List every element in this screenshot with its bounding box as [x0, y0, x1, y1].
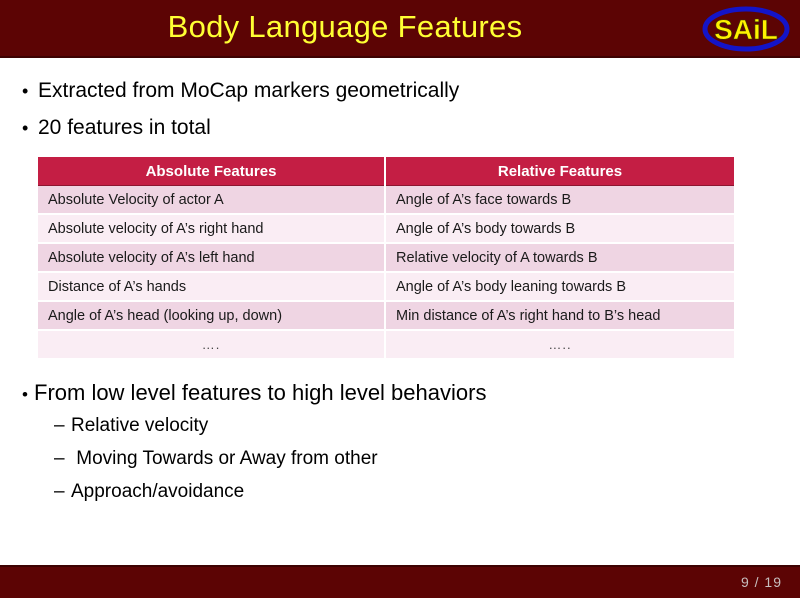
table-row: Distance of A’s hands Angle of A’s body …: [38, 272, 734, 301]
svg-text:SAiL: SAiL: [714, 14, 778, 45]
page-title: Body Language Features: [0, 0, 690, 56]
table-row: Absolute velocity of A’s left hand Relat…: [38, 243, 734, 272]
column-header-absolute-features: Absolute Features: [38, 157, 385, 186]
lower-bullet-list: •From low level features to high level b…: [22, 380, 742, 514]
cell-relative-feature: Angle of A’s face towards B: [385, 186, 734, 215]
sub-bullet-text: Moving Towards or Away from other: [71, 448, 378, 469]
bullet-marker-icon: •: [22, 81, 38, 102]
cell-absolute-ellipsis: ….: [38, 330, 385, 359]
sub-bullet-approach-avoidance: –Approach/avoidance: [54, 481, 742, 503]
cell-absolute-feature: Absolute velocity of A’s right hand: [38, 214, 385, 243]
sub-bullet-moving-towards-away: – Moving Towards or Away from other: [54, 448, 742, 470]
sail-logo: SAiL: [700, 2, 792, 54]
cell-relative-feature: Angle of A’s body towards B: [385, 214, 734, 243]
page-number: 9 / 19: [741, 574, 782, 590]
cell-relative-ellipsis: …..: [385, 330, 734, 359]
bullet-text: 20 features in total: [38, 116, 211, 139]
cell-absolute-feature: Distance of A’s hands: [38, 272, 385, 301]
slide-footer-bar: 9 / 19: [0, 565, 800, 598]
cell-relative-feature: Relative velocity of A towards B: [385, 243, 734, 272]
dash-marker-icon: –: [54, 415, 71, 437]
bullet-marker-icon: •: [22, 118, 38, 139]
features-table: Absolute Features Relative Features Abso…: [38, 157, 734, 360]
bullet-extracted-from-mocap: •Extracted from MoCap markers geometrica…: [22, 79, 459, 103]
sub-bullet-text: Approach/avoidance: [71, 481, 244, 502]
table-row-ellipsis: …. …..: [38, 330, 734, 359]
bullet-text: From low level features to high level be…: [34, 380, 486, 405]
table-row: Angle of A’s head (looking up, down) Min…: [38, 301, 734, 330]
cell-relative-feature: Angle of A’s body leaning towards B: [385, 272, 734, 301]
sub-bullet-relative-velocity: –Relative velocity: [54, 415, 742, 437]
bullet-20-features: •20 features in total: [22, 116, 211, 140]
dash-marker-icon: –: [54, 481, 71, 503]
cell-absolute-feature: Absolute velocity of A’s left hand: [38, 243, 385, 272]
table-row: Absolute velocity of A’s right hand Angl…: [38, 214, 734, 243]
dash-marker-icon: –: [54, 448, 71, 470]
cell-absolute-feature: Absolute Velocity of actor A: [38, 186, 385, 215]
bullet-low-to-high-level: •From low level features to high level b…: [22, 380, 742, 406]
column-header-relative-features: Relative Features: [385, 157, 734, 186]
cell-absolute-feature: Angle of A’s head (looking up, down): [38, 301, 385, 330]
slide-header-bar: Body Language Features SAiL: [0, 0, 800, 58]
table-header-row: Absolute Features Relative Features: [38, 157, 734, 186]
cell-relative-feature: Min distance of A’s right hand to B’s he…: [385, 301, 734, 330]
sub-bullet-text: Relative velocity: [71, 415, 208, 436]
bullet-text: Extracted from MoCap markers geometrical…: [38, 79, 459, 102]
table-row: Absolute Velocity of actor A Angle of A’…: [38, 186, 734, 215]
bullet-marker-icon: •: [22, 385, 34, 405]
